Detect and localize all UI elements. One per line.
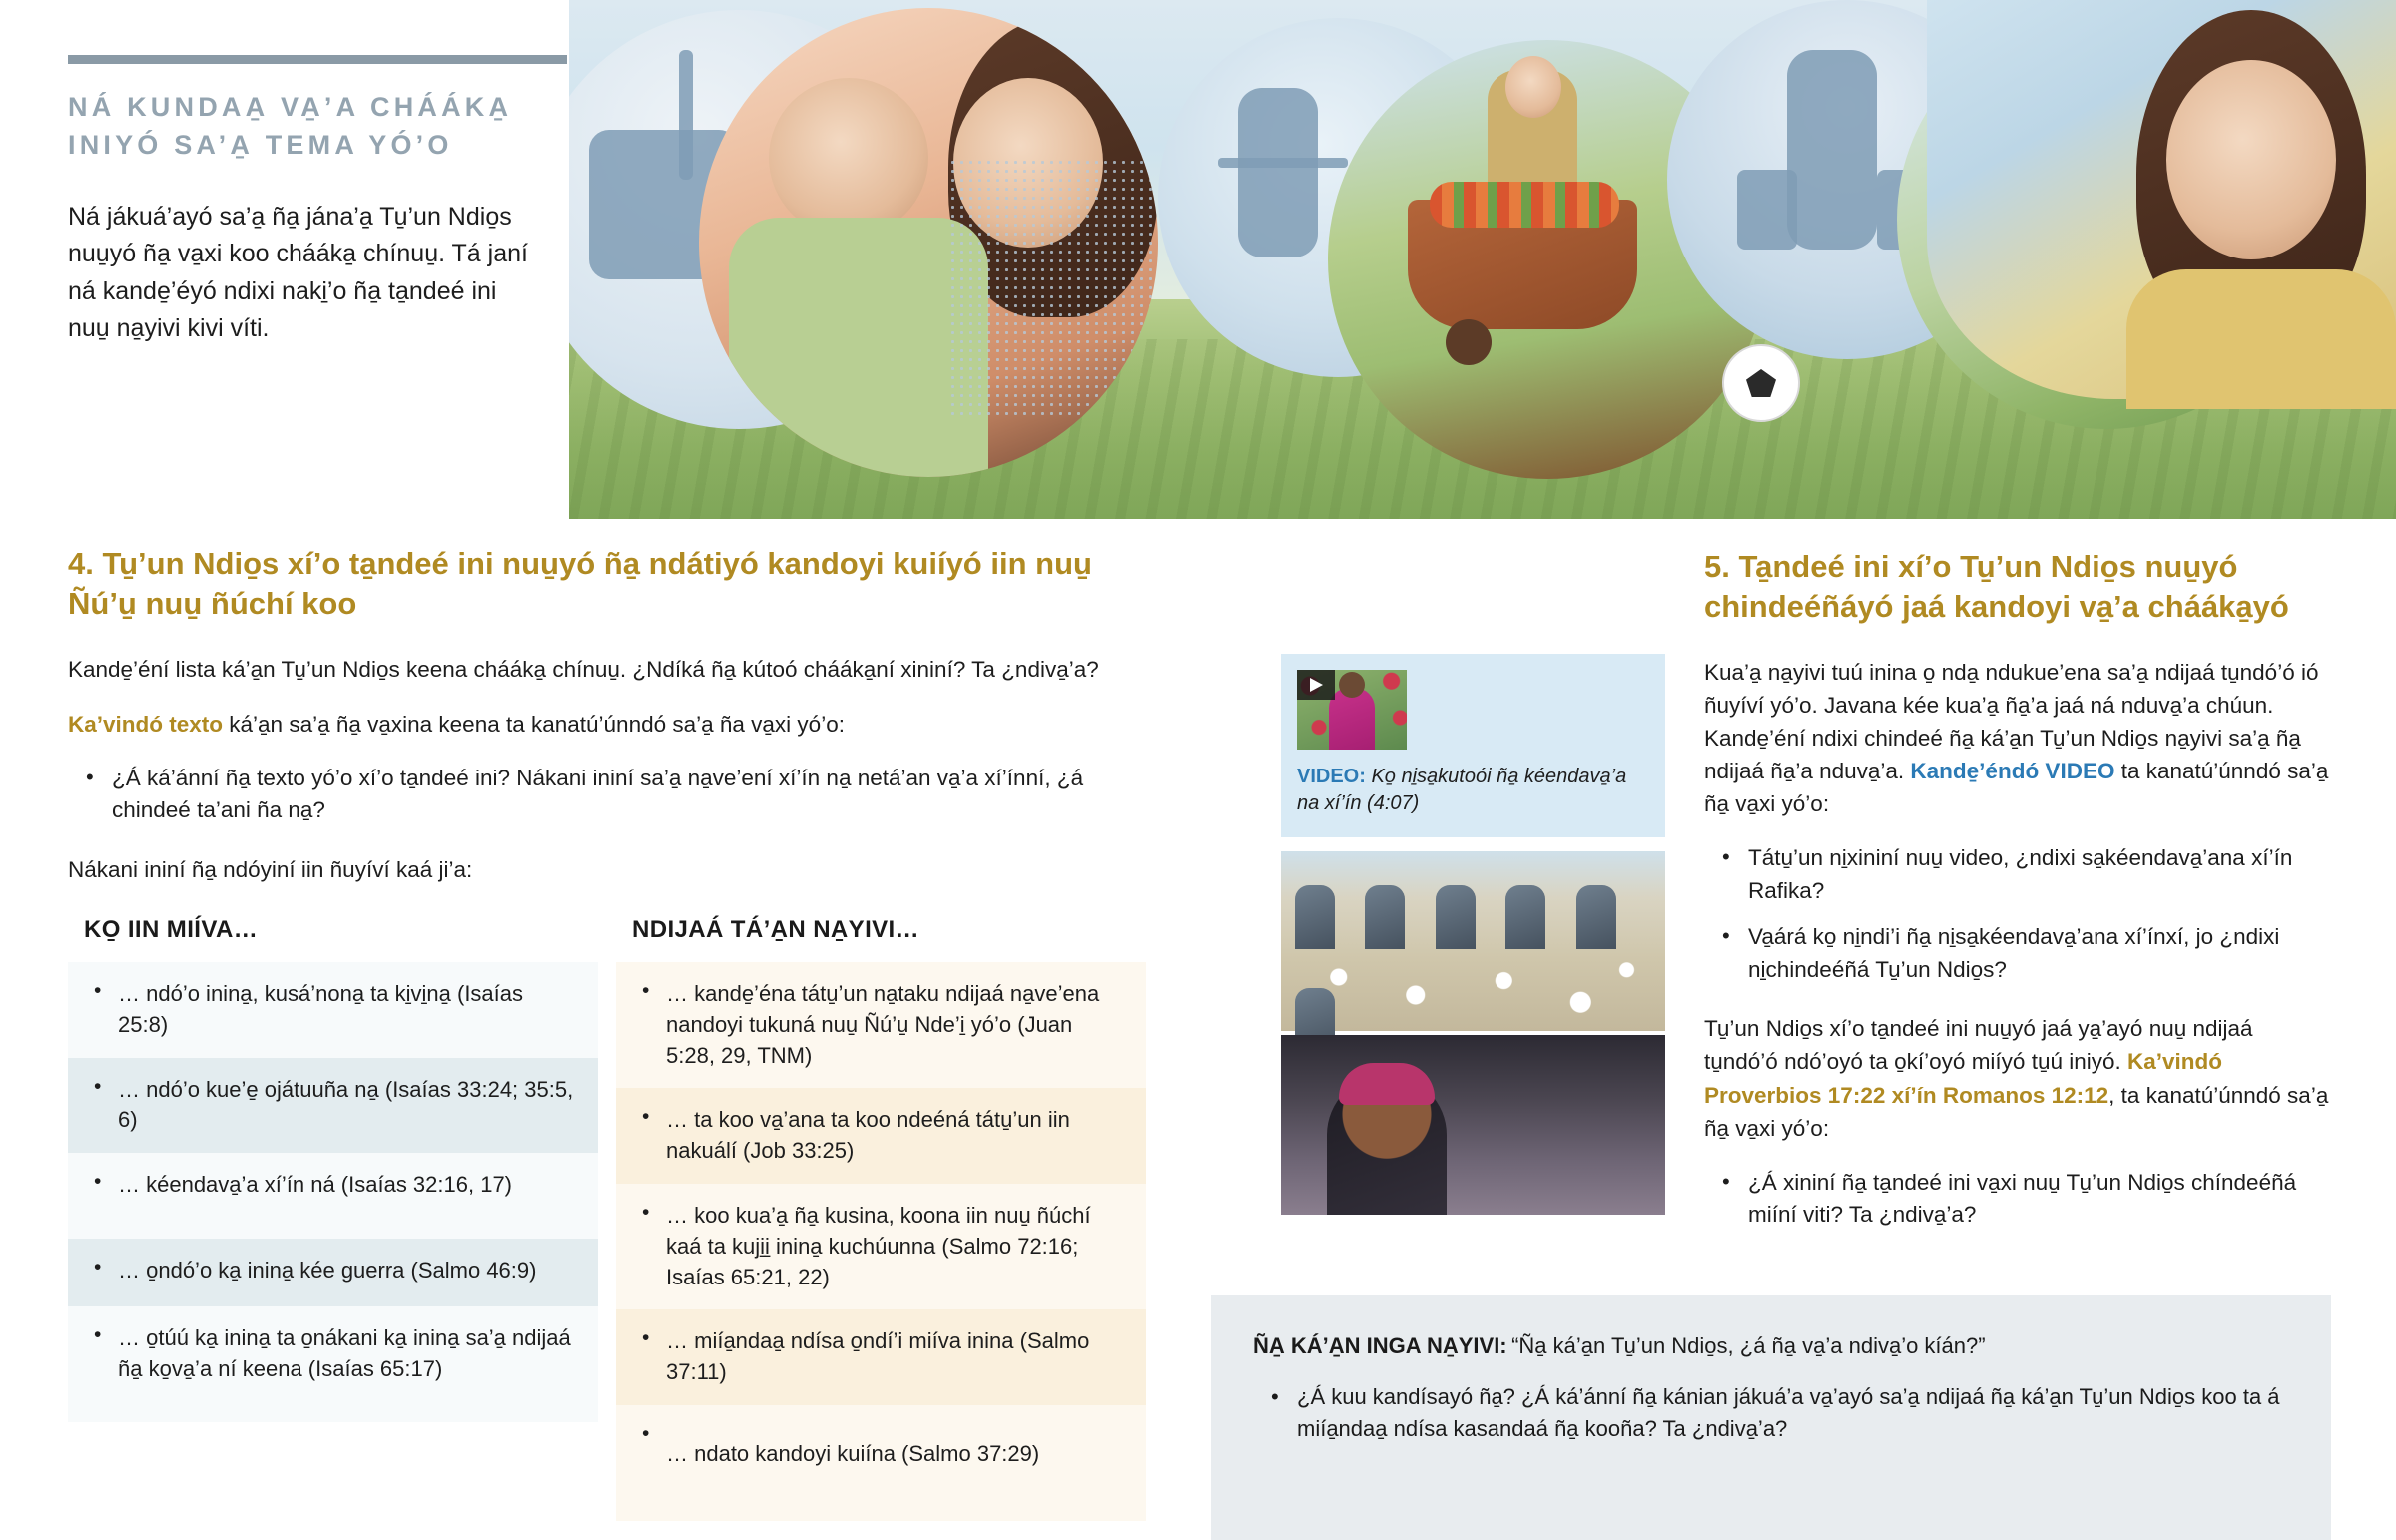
table-row: … ta koo va̱’ana ta koo ndeéná tátu̱’un … [616,1088,1146,1184]
media-column: VIDEO: Ko̱ ni̱sa̱kutoói ña̱ kéendava̱’a … [1281,654,1665,1215]
section-5-heading: 5. Ta̱ndeé ini xí’o Tu̱’un Ndio̱s nuu̱yó… [1704,547,2331,628]
grey-box-header: ÑA̱ KÁ’A̱N INGA NA̱YIVI: “Ña̱ ká’a̱n Tu̱… [1253,1333,2289,1359]
table-row: … koo kua’a̱ ña̱ kusina, koona iin nuu̱ … [616,1184,1146,1309]
table-row: … miía̱ndaa̱ ndísa o̱ndí’i miíva inina (… [616,1309,1146,1405]
page-kicker: NÁ KUNDAA̱ VA̱’A CHÁÁKA̱ INIYÓ SA’A̱ TEM… [68,88,567,165]
table-header-a: KO̱ IIN MIÍVA… [68,916,598,962]
video-card[interactable]: VIDEO: Ko̱ ni̱sa̱kutoói ña̱ kéendava̱’a … [1281,654,1665,837]
hero-banner: NÁ KUNDAA̱ VA̱’A CHÁÁKA̱ INIYÓ SA’A̱ TEM… [0,0,2396,519]
kicker-line-1: NÁ KUNDAA̱ VA̱’A CHÁÁKA̱ [68,88,567,126]
section-4-heading: 4. Tu̱’un Ndio̱s xí’o ta̱ndeé ini nuu̱yó… [68,544,1146,625]
table-row: … o̱túú ka̱ inina̱ ta o̱nákani ka̱ inina… [68,1306,598,1422]
field-worker [1576,885,1616,949]
watch-video-link[interactable]: Kande̱’éndó VIDEO [1910,759,2114,783]
list-item: ¿Á kuu kandísayó ña̱? ¿Á ká’ánní ña̱ kán… [1297,1381,2289,1445]
video-subject [1329,688,1375,750]
field-worker [1295,885,1335,949]
portrait-woman [1927,0,2396,399]
section-4-column: 4. Tu̱’un Ndio̱s xí’o ta̱ndeé ini nuu̱yó… [68,544,1146,1521]
photo-cotton-field [1281,851,1665,1031]
section-4-bullet-list: ¿Á ká’ánní ña̱ texto yó’o xí’o ta̱ndeé i… [68,763,1146,827]
wheelbarrow-wheel [1446,319,1492,365]
table-row: … ndó’o kue’e̱ ojátuuña na̱ (Isaías 33:2… [68,1058,598,1154]
vegetables [1430,182,1619,228]
medallion-mother-and-child [699,8,1158,477]
section-5-final-bullet-list: ¿Á xininí ña̱ ta̱ndeé ini va̱xi nuu̱ Tu̱… [1704,1167,2331,1232]
section-4-paragraph-2-rest: ká’a̱n sa’a̱ ña̱ va̱xina keena ta kanatú… [223,712,845,737]
kicker-line-2: INIYÓ SA’A̱ TEMA YÓ’O [68,126,567,164]
table-header-b: NDIJAÁ TÁ’A̱N NA̱YIVI… [616,916,1146,962]
video-thumbnail[interactable] [1297,670,1407,750]
table-row: … kande̱’éna tátu̱’un na̱taku ndijaá na̱… [616,962,1146,1088]
list-item: Va̱árá ko̱ ni̱ndi’i ña̱ ni̱sa̱kéendava̱’… [1748,921,2331,986]
table-column-a: KO̱ IIN MIÍVA… … ndó’o inina̱, kusá’nona… [68,916,598,1521]
grey-box-title: ÑA̱ KÁ’A̱N INGA NA̱YIVI: [1253,1333,1507,1358]
table-row: … ndato kandoyi kuiína (Salmo 37:29) [616,1405,1146,1521]
grey-box-quote: “Ña̱ ká’a̱n Tu̱’un Ndio̱s, ¿á ña̱ va̱’a … [1511,1333,1985,1358]
list-item: ¿Á xininí ña̱ ta̱ndeé ini va̱xi nuu̱ Tu̱… [1748,1167,2331,1232]
read-text-link[interactable]: Ka’vindó texto [68,712,223,737]
section-4-paragraph-2: Ka’vindó texto ká’a̱n sa’a̱ ña̱ va̱xina … [68,708,1146,741]
head-scarf [1339,1063,1435,1105]
section-5-bullet-list: Tátu̱’un ni̱xininí nuu̱ video, ¿ndixi sa… [1704,842,2331,987]
video-label: VIDEO: [1297,766,1366,787]
section-5-paragraph-1: Kua’a̱ na̱yivi tuú inina o̱ nda̱ ndukue’… [1704,656,2331,820]
list-item: Tátu̱’un ni̱xininí nuu̱ video, ¿ndixi sa… [1748,842,2331,907]
halftone-overlay [948,158,1158,417]
soccer-ball [1722,344,1800,422]
section-5-column: 5. Ta̱ndeé ini xí’o Tu̱’un Ndio̱s nuu̱yó… [1704,547,2331,1258]
table-row: … kéendava̱’a xí’ín ná (Isaías 32:16, 17… [68,1153,598,1239]
list-item: ¿Á ká’ánní ña̱ texto yó’o xí’o ta̱ndeé i… [112,763,1146,827]
header-block: NÁ KUNDAA̱ VA̱’A CHÁÁKA̱ INIYÓ SA’A̱ TEM… [68,55,567,373]
field-worker [1505,885,1545,949]
video-caption: VIDEO: Ko̱ ni̱sa̱kutoói ña̱ kéendava̱’a … [1297,764,1649,817]
title-rule [68,55,567,64]
hero-illustration [569,0,2396,519]
grey-box-bullet-list: ¿Á kuu kandísayó ña̱? ¿Á ká’ánní ña̱ kán… [1253,1381,2289,1445]
section-4-paragraph-1: Kande̱’éní lista ká’a̱n Tu̱’un Ndio̱s ke… [68,653,1146,686]
photo-smiling-woman [1281,1035,1665,1215]
field-worker [1365,885,1405,949]
what-others-say-box: ÑA̱ KÁ’A̱N INGA NA̱YIVI: “Ña̱ ká’a̱n Tu̱… [1211,1295,2331,1540]
section-5-paragraph-2: Tu̱’un Ndio̱s xí’o ta̱ndeé ini nuu̱yó ja… [1704,1012,2331,1144]
section-4-paragraph-3: Nákani ininí ña̱ ndóyiní iin ñuyíví kaá … [68,853,1146,886]
table-column-b: NDIJAÁ TÁ’A̱N NA̱YIVI… … kande̱’éna tátu… [616,916,1146,1521]
comparison-table: KO̱ IIN MIÍVA… … ndó’o inina̱, kusá’nona… [68,916,1146,1521]
play-icon[interactable] [1297,670,1335,700]
table-row: … ndó’o inina̱, kusá’nona̱ ta ki̱vi̱na̱ … [68,962,598,1058]
field-worker [1436,885,1476,949]
table-row: … o̱ndó’o ka̱ inina̱ kée guerra (Salmo 4… [68,1239,598,1306]
intro-paragraph: Ná jákuá’ayó sa’a̱ ña̱ jána’a̱ Tu̱’un Nd… [68,199,537,348]
